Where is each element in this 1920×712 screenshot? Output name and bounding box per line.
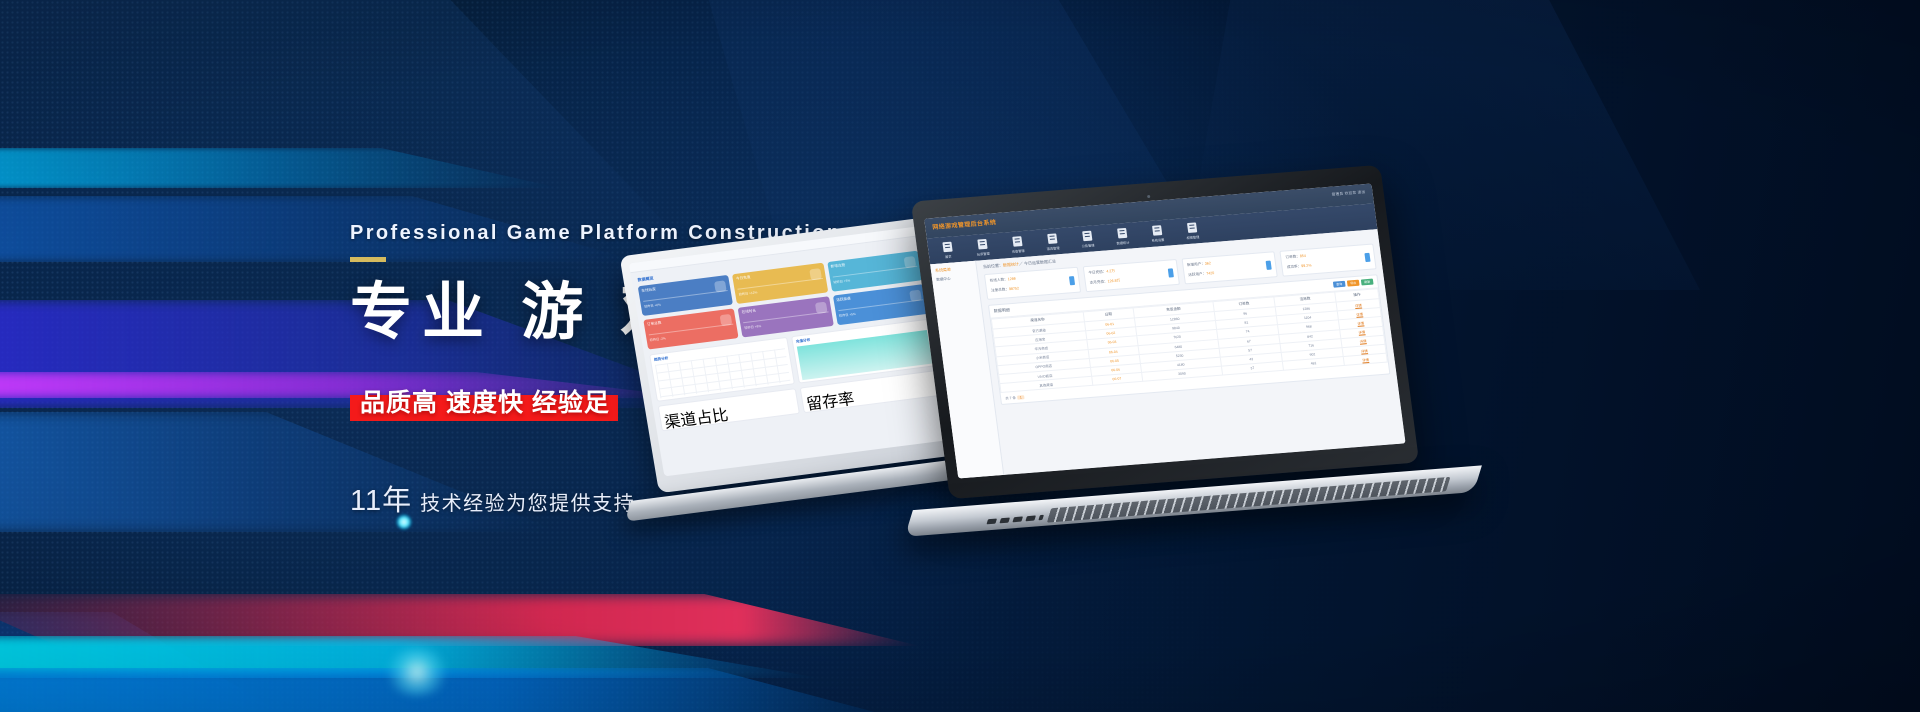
query-button[interactable]: 查询: [1333, 281, 1346, 288]
years-value: 11年: [350, 485, 412, 517]
kpi-label: 在线人数：: [990, 277, 1008, 282]
export-button[interactable]: 导出: [1347, 280, 1360, 287]
kpi-value: 126.8万: [1107, 278, 1120, 283]
webcam-icon: [1147, 195, 1150, 198]
user-info[interactable]: 管理员 欢迎您 退出: [1331, 190, 1365, 198]
kpi-value: 1286: [1007, 277, 1016, 282]
toolbar-label: 公告管理: [1077, 242, 1100, 249]
kpi-value: 854: [1300, 254, 1307, 258]
toolbar-label: 道具管理: [1042, 244, 1065, 251]
hero-banner: Professional Game Platform Construction …: [0, 0, 1920, 712]
kpi-card[interactable]: 在线人数：1286 注册总数：98752: [984, 267, 1081, 300]
stat-card[interactable]: 在线时长 较昨日 +8%: [738, 296, 834, 337]
breadcrumb-active[interactable]: 数据统计: [1003, 261, 1020, 267]
toolbar-label: 充值管理: [1007, 247, 1030, 254]
toolbar-label: 权限管理: [1181, 233, 1204, 240]
breadcrumb-suffix: ／ 今日运营数据汇总: [1019, 258, 1057, 266]
stat-card-sub: 较昨日 +6%: [643, 290, 729, 309]
breadcrumb-prefix: 当前位置：: [983, 263, 1004, 270]
laptop-mockups: 数据概览 在线玩家 较昨日 +6% 今日充值 较昨日 +12%: [600, 160, 1540, 520]
toolbar-label: 系统设置: [1147, 236, 1170, 243]
stat-card-sub: 较昨日 +5%: [838, 299, 924, 318]
toolbar-item[interactable]: 道具管理: [1040, 232, 1064, 251]
notice-icon: [1082, 230, 1092, 241]
toolbar-label: 数据统计: [1112, 239, 1135, 246]
chart-icon: [1069, 276, 1075, 285]
players-icon: [977, 238, 987, 249]
permission-icon: [1186, 222, 1196, 233]
gold-rule: [350, 257, 386, 262]
port-icon: [1025, 515, 1036, 521]
kpi-label: 注册总数：: [991, 287, 1009, 292]
toolbar-item[interactable]: 充值管理: [1005, 235, 1029, 254]
toolbar-label: 玩家管理: [972, 250, 995, 257]
kpi-label: 订单数：: [1285, 254, 1300, 259]
feature-badge: 品质高 速度快 经验足: [350, 395, 618, 421]
user-icon: [714, 280, 727, 292]
kpi-label: 活跃用户：: [1188, 272, 1206, 277]
kpi-label: 新增用户：: [1187, 262, 1205, 267]
toolbar-item[interactable]: 数据统计: [1110, 227, 1134, 246]
wallet-icon: [809, 268, 822, 280]
stat-card-sub: 较昨日 +8%: [743, 311, 829, 330]
pager-label: 共 7 条: [1005, 396, 1016, 401]
kpi-label: 今日充值：: [1088, 270, 1106, 275]
table-title: 数据明细: [993, 307, 1010, 314]
stat-card-sub: 较昨日 +3%: [832, 266, 918, 285]
kpi-value: 362: [1205, 261, 1212, 265]
kpi-label: 成功率：: [1287, 264, 1302, 269]
kpi-value: 4.2万: [1106, 269, 1115, 274]
items-icon: [1047, 233, 1057, 244]
home-icon: [942, 241, 952, 252]
gear-icon: [1151, 225, 1161, 236]
kpi-value: 99.2%: [1301, 263, 1312, 268]
toolbar-label: 首页: [937, 253, 960, 260]
stat-card-sub: 较昨日 +12%: [738, 278, 824, 297]
laptop-front-screen: 网络游戏管理后台系统 管理员 欢迎您 退出 首页 玩家管理: [924, 184, 1405, 479]
doc-icon: [909, 290, 922, 302]
kpi-value: 7420: [1206, 271, 1215, 276]
chart-icon: [1167, 268, 1173, 277]
toolbar-item[interactable]: 系统设置: [1145, 224, 1169, 243]
app-title: 网络游戏管理后台系统: [932, 217, 997, 231]
port-icon: [999, 517, 1010, 523]
chart-title: 留存率: [804, 374, 938, 414]
port-icon: [986, 519, 997, 525]
table-actions: 查询 导出 刷新: [1333, 279, 1374, 288]
chart-icon: [1266, 261, 1272, 270]
kpi-card[interactable]: 新增用户：362 活跃用户：7420: [1181, 251, 1278, 284]
content-area: 当前位置：数据统计／ 今日运营数据汇总 在线人数：1286 注册总数：98752…: [976, 229, 1406, 475]
pager-current-page[interactable]: 1: [1017, 395, 1025, 400]
stat-card-sub: 较昨日 -2%: [649, 324, 735, 343]
stat-card[interactable]: 订单总数 较昨日 -2%: [643, 308, 739, 349]
stat-card[interactable]: 活跃渠道 较昨日 +5%: [833, 284, 929, 325]
kpi-label: 本月充值：: [1089, 279, 1107, 284]
clock-icon: [815, 302, 828, 314]
refresh-button[interactable]: 刷新: [1361, 279, 1374, 286]
laptop-front: 网络游戏管理后台系统 管理员 欢迎您 退出 首页 玩家管理: [911, 165, 1419, 499]
feature-badge-text: 品质高 速度快 经验足: [360, 383, 610, 419]
sidebar-title: 系统菜单: [935, 265, 973, 274]
sidebar-item-data-center[interactable]: 数据中心: [936, 275, 974, 283]
kpi-value: 98752: [1009, 286, 1020, 291]
toolbar-item[interactable]: 玩家管理: [970, 238, 994, 257]
glow-dot-large: [382, 648, 452, 696]
kpi-card[interactable]: 订单数：854 成功率：99.2%: [1280, 243, 1377, 276]
kpi-card[interactable]: 今日充值：4.2万 本月充值：126.8万: [1082, 259, 1179, 292]
share-icon: [904, 256, 917, 268]
toolbar-item[interactable]: 权限管理: [1180, 221, 1204, 240]
chart-title: 渠道占比: [662, 393, 796, 433]
toolbar-item[interactable]: 首页: [935, 241, 959, 260]
laptop-front-lid: 网络游戏管理后台系统 管理员 欢迎您 退出 首页 玩家管理: [911, 165, 1419, 499]
toolbar-item[interactable]: 公告管理: [1075, 230, 1099, 249]
link-icon: [720, 314, 733, 326]
port-icon: [1012, 516, 1023, 522]
recharge-icon: [1012, 236, 1022, 247]
chart-icon: [1364, 253, 1370, 262]
stats-icon: [1117, 227, 1127, 238]
